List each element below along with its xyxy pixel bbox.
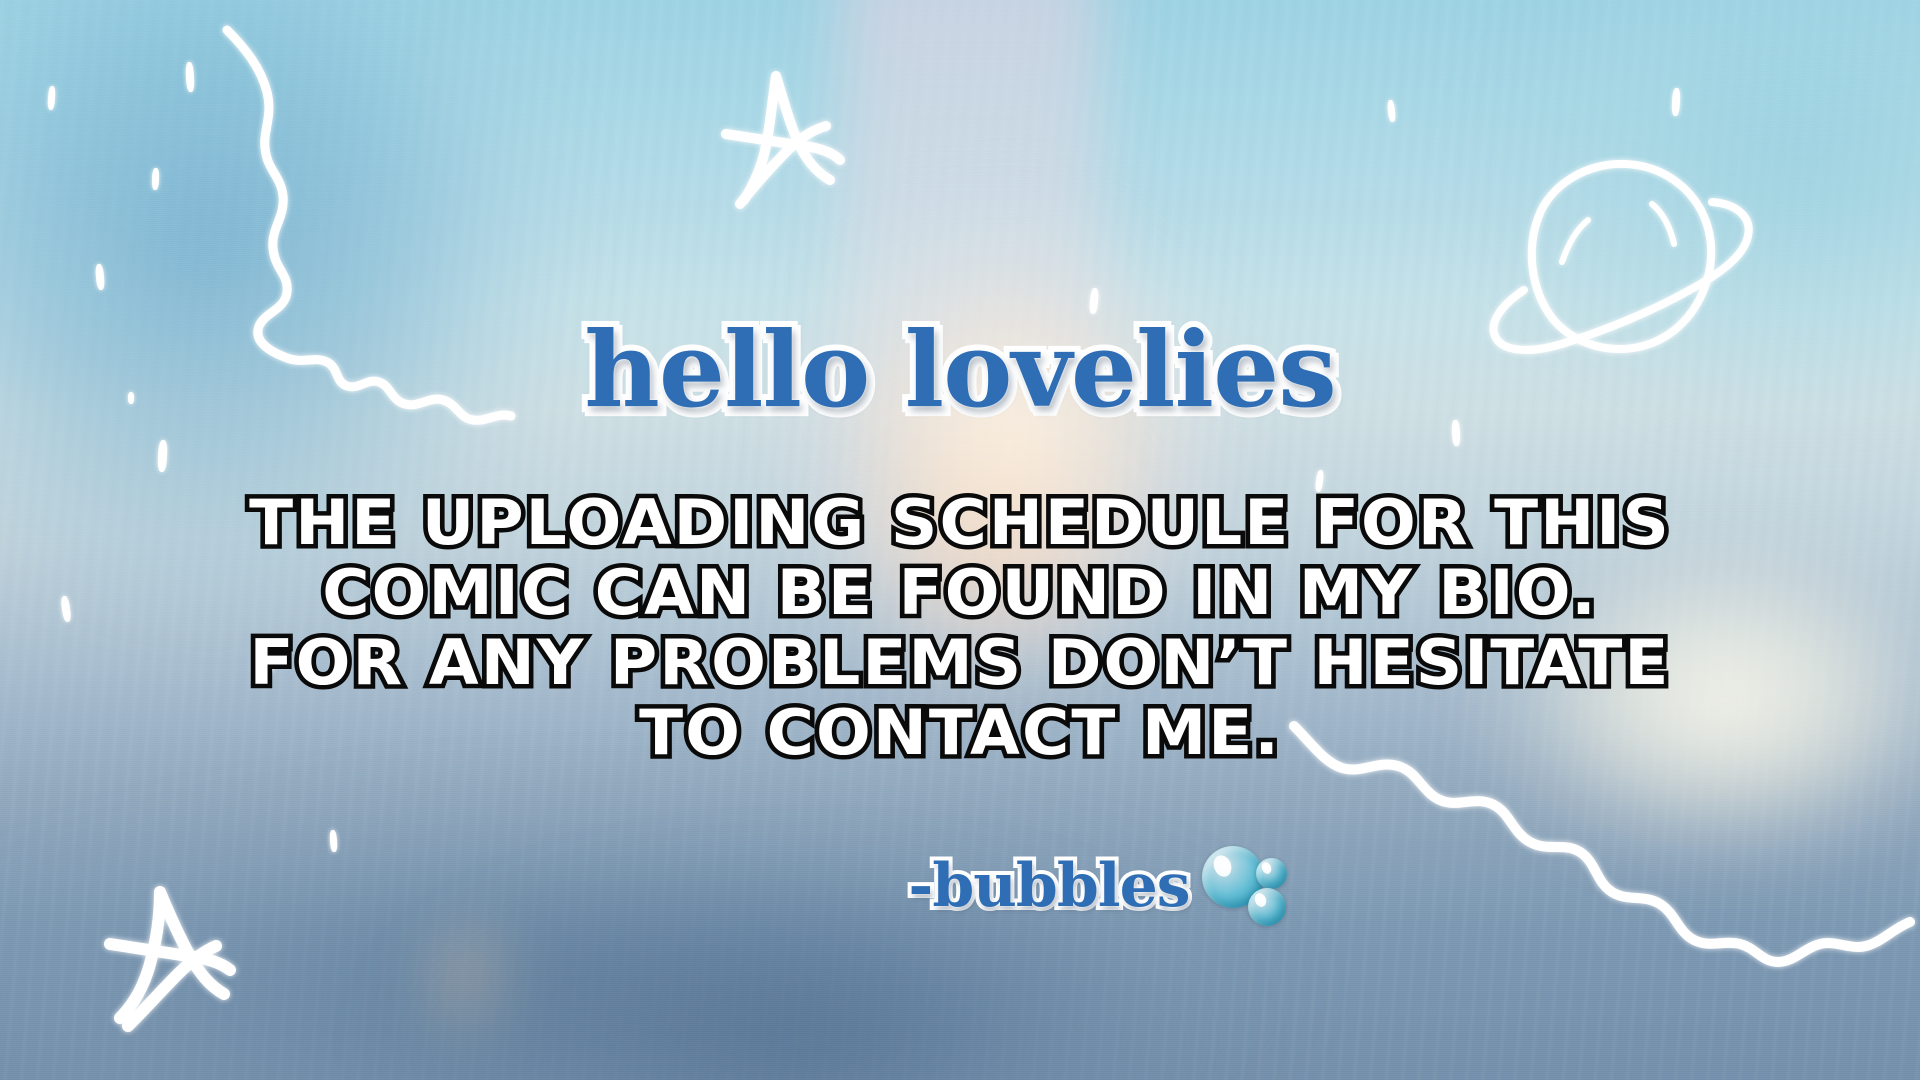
announcement-body: THE UPLOADING SCHEDULE FOR THIS COMIC CA…	[0, 488, 1920, 768]
bubble-medium	[1248, 888, 1286, 926]
body-line: COMIC CAN BE FOUND IN MY BIO.	[0, 558, 1920, 628]
poster-content: hello lovelies hello lovelies THE UPLOAD…	[0, 0, 1920, 1080]
bubble-small	[1256, 858, 1287, 889]
body-line: TO CONTACT ME.	[0, 698, 1920, 768]
body-line: THE UPLOADING SCHEDULE FOR THIS	[0, 488, 1920, 558]
signature-text: -bubbles	[908, 856, 1189, 916]
poster-canvas: hello lovelies hello lovelies THE UPLOAD…	[0, 0, 1920, 1080]
bubbles-icon	[1202, 838, 1312, 934]
page-title: hello lovelies	[0, 318, 1920, 422]
signature: -bubbles	[0, 838, 1920, 934]
body-line: FOR ANY PROBLEMS DON’T HESITATE	[0, 628, 1920, 698]
